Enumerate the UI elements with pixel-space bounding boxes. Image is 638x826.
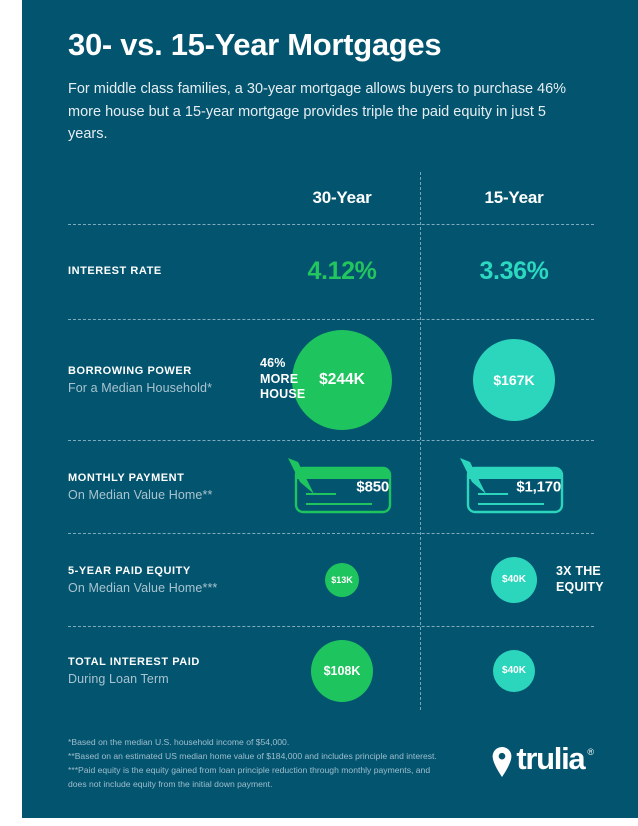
cell-interest-rate-15year: 3.36% bbox=[428, 225, 600, 319]
column-header-label: 15-Year bbox=[484, 188, 543, 208]
bubble-value: $13K bbox=[331, 575, 353, 585]
annotation-more-house: 46%MOREHOUSE bbox=[260, 356, 305, 403]
annotation-3x-equity: 3X THEEQUITY bbox=[556, 564, 604, 595]
page-subtitle: For middle class families, a 30-year mor… bbox=[68, 78, 580, 145]
cell-monthly-payment-15year: $1,170 bbox=[428, 441, 600, 533]
footnote: *Based on the median U.S. household inco… bbox=[68, 736, 440, 750]
bubble-total-interest-30year: $108K bbox=[311, 640, 373, 702]
row-label-cell: BORROWING POWER For a Median Household* bbox=[68, 364, 256, 396]
footnote: **Based on an estimated US median home v… bbox=[68, 750, 440, 764]
row-label: MONTHLY PAYMENT bbox=[68, 471, 248, 486]
value-text: 4.12% bbox=[308, 257, 377, 286]
check-amount: $1,170 bbox=[516, 478, 561, 495]
cell-borrowing-power-15year: $167K bbox=[428, 320, 600, 440]
row-sublabel: On Median Value Home*** bbox=[68, 581, 248, 595]
row-label: INTEREST RATE bbox=[68, 264, 248, 279]
cell-borrowing-power-30year: 46%MOREHOUSE $244K bbox=[256, 320, 428, 440]
row-label-cell: INTEREST RATE bbox=[68, 264, 256, 279]
table-row-interest-rate: INTEREST RATE 4.12% 3.36% bbox=[68, 225, 594, 320]
cell-total-interest-30year: $108K bbox=[256, 627, 428, 715]
bubble-value: $108K bbox=[324, 664, 361, 678]
table-row-paid-equity: 5-YEAR PAID EQUITY On Median Value Home*… bbox=[68, 534, 594, 627]
column-header-label: 30-Year bbox=[312, 188, 371, 208]
bubble-borrowing-power-15year: $167K bbox=[473, 339, 555, 421]
row-label-cell: TOTAL INTEREST PAID During Loan Term bbox=[68, 655, 256, 687]
row-label-cell: MONTHLY PAYMENT On Median Value Home** bbox=[68, 471, 256, 503]
table-row-borrowing-power: BORROWING POWER For a Median Household* … bbox=[68, 320, 594, 441]
row-sublabel: On Median Value Home** bbox=[68, 488, 248, 502]
page-title: 30- vs. 15-Year Mortgages bbox=[68, 28, 594, 62]
cell-paid-equity-30year: $13K bbox=[256, 534, 428, 626]
cell-total-interest-15year: $40K bbox=[428, 627, 600, 715]
bubble-borrowing-power-30year: $244K bbox=[292, 330, 392, 430]
trulia-logo: trulia ® bbox=[491, 746, 594, 780]
check-amount: $850 bbox=[356, 478, 389, 495]
table-row-monthly-payment: MONTHLY PAYMENT On Median Value Home** $… bbox=[68, 441, 594, 534]
column-header-15year: 15-Year bbox=[428, 172, 600, 224]
footer: *Based on the median U.S. household inco… bbox=[68, 736, 594, 792]
infographic-panel: 30- vs. 15-Year Mortgages For middle cla… bbox=[22, 0, 638, 818]
row-label: 5-YEAR PAID EQUITY bbox=[68, 564, 248, 579]
registered-mark-icon: ® bbox=[587, 748, 594, 757]
footnote: ***Paid equity is the equity gained from… bbox=[68, 764, 440, 792]
table-row-total-interest: TOTAL INTEREST PAID During Loan Term $10… bbox=[68, 627, 594, 715]
bubble-paid-equity-15year: $40K bbox=[491, 557, 537, 603]
bubble-value: $167K bbox=[493, 372, 534, 388]
map-pin-icon bbox=[491, 746, 513, 780]
bubble-value: $40K bbox=[502, 574, 526, 585]
row-label: TOTAL INTEREST PAID bbox=[68, 655, 248, 670]
bubble-total-interest-15year: $40K bbox=[493, 650, 535, 692]
bubble-value: $40K bbox=[502, 665, 526, 676]
footnotes: *Based on the median U.S. household inco… bbox=[68, 736, 440, 792]
bubble-paid-equity-30year: $13K bbox=[325, 563, 359, 597]
cell-paid-equity-15year: $40K 3X THEEQUITY bbox=[428, 534, 600, 626]
cell-monthly-payment-30year: $850 bbox=[256, 441, 428, 533]
check-icon-15year: $1,170 bbox=[458, 456, 570, 518]
comparison-table: 30-Year 15-Year INTEREST RATE 4.12% 3.36… bbox=[68, 172, 594, 715]
row-sublabel: During Loan Term bbox=[68, 672, 248, 686]
row-label-cell: 5-YEAR PAID EQUITY On Median Value Home*… bbox=[68, 564, 256, 596]
value-text: 3.36% bbox=[480, 257, 549, 286]
table-header-row: 30-Year 15-Year bbox=[68, 172, 594, 225]
cell-interest-rate-30year: 4.12% bbox=[256, 225, 428, 319]
column-header-30year: 30-Year bbox=[256, 172, 428, 224]
bubble-value: $244K bbox=[319, 371, 365, 389]
header: 30- vs. 15-Year Mortgages For middle cla… bbox=[22, 0, 638, 146]
row-label: BORROWING POWER bbox=[68, 364, 248, 379]
row-sublabel: For a Median Household* bbox=[68, 381, 248, 395]
check-icon-30year: $850 bbox=[286, 456, 398, 518]
trulia-wordmark: trulia bbox=[516, 746, 584, 773]
